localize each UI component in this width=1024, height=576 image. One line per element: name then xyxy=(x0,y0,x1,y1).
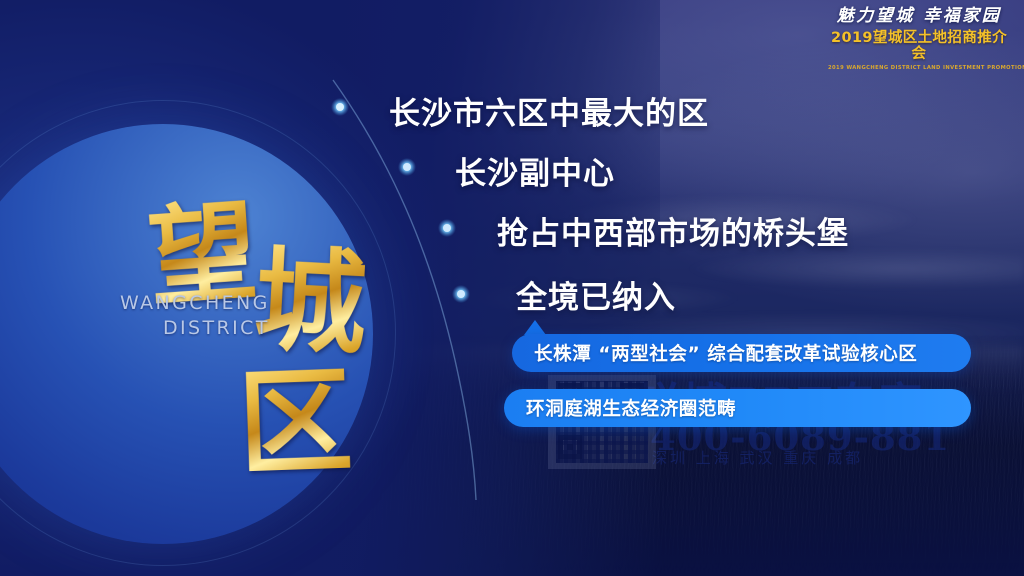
bullet-text-1: 长沙市六区中最大的区 xyxy=(389,88,709,133)
presentation-slide: 望 城 区 WANGCHENG DISTRICT 锐博PPT专家 400-608… xyxy=(0,0,1024,576)
bullet-text-2: 长沙副中心 xyxy=(455,148,615,193)
bullet-text-3: 抢占中西部市场的桥头堡 xyxy=(497,208,849,253)
pill-banner-1: 长株潭 “两型社会” 综合配套改革试验核心区 xyxy=(512,334,971,372)
event-logo-title: 2019望城区土地招商推介会 xyxy=(828,31,1010,63)
event-logo-subtitle: 2019 WANGCHENG DISTRICT LAND INVESTMENT … xyxy=(828,66,1010,72)
pill-banner-2: 环洞庭湖生态经济圈范畴 xyxy=(504,389,971,427)
pill-pointer-triangle xyxy=(524,320,546,335)
bullet-text-4: 全境已纳入 xyxy=(516,272,676,317)
event-logo: 魅力望城 幸福家园 2019望城区土地招商推介会 2019 WANGCHENG … xyxy=(828,6,1010,72)
event-logo-calligraphy: 魅力望城 幸福家园 xyxy=(828,6,1010,27)
decorative-arc xyxy=(0,0,1024,576)
